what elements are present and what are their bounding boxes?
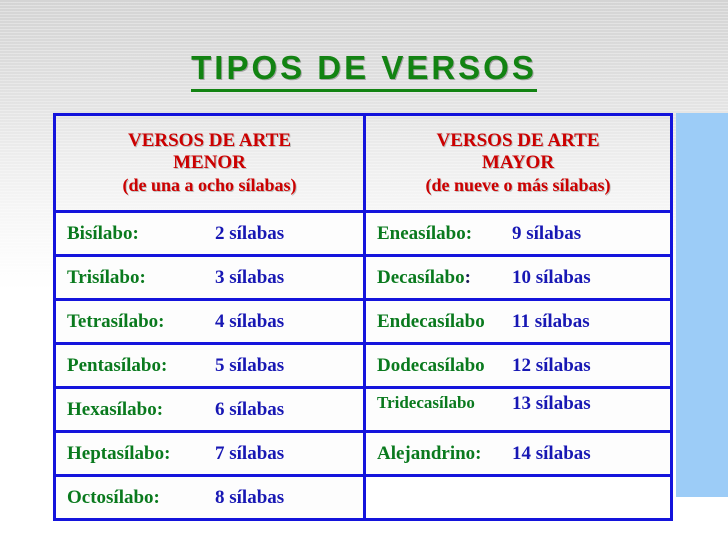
verse-term-text: Decasílabo	[377, 267, 465, 288]
verse-count: 4 sílabas	[215, 311, 284, 333]
table-row: Trisílabo: 3 sílabas Decasílabo: 10 síla…	[55, 256, 672, 300]
table-row: Tetrasílabo: 4 sílabas Endecasílabo 11 s…	[55, 300, 672, 344]
verse-count: 14 sílabas	[512, 443, 591, 465]
header-subtitle-right: (de nueve o más sílabas)	[366, 175, 670, 196]
verse-term: Heptasílabo:	[67, 443, 215, 465]
table-header-row: VERSOS DE ARTE MENOR (de una a ocho síla…	[55, 115, 672, 212]
cell-left-1: Bisílabo: 2 sílabas	[55, 212, 365, 256]
header-title-line2-right: MAYOR	[366, 152, 670, 174]
decorative-right-panel	[676, 113, 728, 497]
verse-count: 9 sílabas	[512, 223, 581, 245]
cell-right-6: Alejandrino: 14 sílabas	[365, 432, 672, 476]
cell-left-4: Pentasílabo: 5 sílabas	[55, 344, 365, 388]
verse-term: Dodecasílabo	[377, 355, 512, 377]
table-header-cell-arte-mayor: VERSOS DE ARTE MAYOR (de nueve o más síl…	[365, 115, 672, 212]
cell-right-5: Tridecasílabo 13 sílabas	[365, 388, 672, 432]
verse-types-table: VERSOS DE ARTE MENOR (de una a ocho síla…	[53, 113, 673, 521]
verse-term: Trisílabo:	[67, 267, 215, 289]
cell-left-5: Hexasílabo: 6 sílabas	[55, 388, 365, 432]
verse-count: 12 sílabas	[512, 355, 591, 377]
verse-count: 2 sílabas	[215, 223, 284, 245]
table-row: Bisílabo: 2 sílabas Eneasílabo: 9 sílaba…	[55, 212, 672, 256]
cell-right-3: Endecasílabo 11 sílabas	[365, 300, 672, 344]
cell-left-7: Octosílabo: 8 sílabas	[55, 476, 365, 520]
table-row: Octosílabo: 8 sílabas	[55, 476, 672, 520]
cell-right-2: Decasílabo: 10 sílabas	[365, 256, 672, 300]
cell-right-4: Dodecasílabo 12 sílabas	[365, 344, 672, 388]
header-title-line1-left: VERSOS DE ARTE	[56, 130, 363, 152]
cell-left-6: Heptasílabo: 7 sílabas	[55, 432, 365, 476]
verse-count: 10 sílabas	[512, 267, 591, 289]
verse-term: Tetrasílabo:	[67, 311, 215, 333]
verse-term: Tridecasílabo	[377, 393, 512, 413]
verse-count: 7 sílabas	[215, 443, 284, 465]
cell-left-2: Trisílabo: 3 sílabas	[55, 256, 365, 300]
verse-count: 13 sílabas	[512, 393, 591, 415]
header-title-line1-right: VERSOS DE ARTE	[366, 130, 670, 152]
verse-term: Eneasílabo:	[377, 223, 512, 245]
verse-count: 3 sílabas	[215, 267, 284, 289]
header-subtitle-left: (de una a ocho sílabas)	[56, 175, 363, 196]
verse-count: 6 sílabas	[215, 399, 284, 421]
verse-count: 11 sílabas	[512, 311, 590, 333]
header-title-line2-left: MENOR	[56, 152, 363, 174]
verse-term-colon: :	[465, 267, 471, 288]
table-header-cell-arte-menor: VERSOS DE ARTE MENOR (de una a ocho síla…	[55, 115, 365, 212]
table-row: Pentasílabo: 5 sílabas Dodecasílabo 12 s…	[55, 344, 672, 388]
page-title: TIPOS DE VERSOS	[0, 49, 728, 92]
table-row: Heptasílabo: 7 sílabas Alejandrino: 14 s…	[55, 432, 672, 476]
verse-term: Decasílabo:	[377, 267, 512, 289]
verse-count: 5 sílabas	[215, 355, 284, 377]
slide-canvas: TIPOS DE VERSOS VERSOS DE ARTE MENOR (de…	[0, 0, 728, 546]
table-row: Hexasílabo: 6 sílabas Tridecasílabo 13 s…	[55, 388, 672, 432]
verse-term: Alejandrino:	[377, 443, 512, 465]
verse-term: Octosílabo:	[67, 487, 215, 509]
verse-term: Bisílabo:	[67, 223, 215, 245]
cell-left-3: Tetrasílabo: 4 sílabas	[55, 300, 365, 344]
verse-term: Endecasílabo	[377, 311, 512, 333]
verse-term: Hexasílabo:	[67, 399, 215, 421]
verse-term: Pentasílabo:	[67, 355, 215, 377]
cell-right-1: Eneasílabo: 9 sílabas	[365, 212, 672, 256]
cell-right-7-empty	[365, 476, 672, 520]
verse-count: 8 sílabas	[215, 487, 284, 509]
page-title-text: TIPOS DE VERSOS	[191, 49, 537, 92]
